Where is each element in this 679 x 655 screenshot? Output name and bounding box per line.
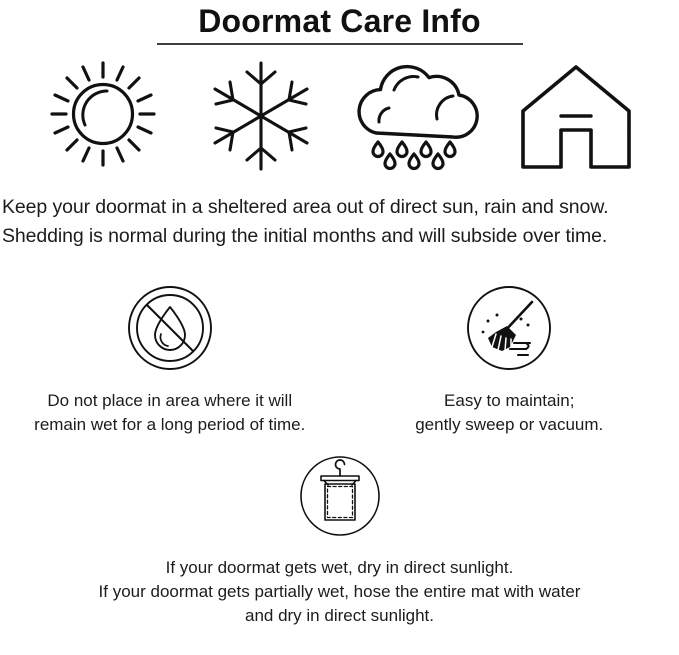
care-item-caption: Easy to maintain; gently sweep or vacuum… — [415, 389, 603, 437]
page-header: Doormat Care Info — [0, 0, 679, 45]
care-items-row: Do not place in area where it will remai… — [0, 285, 679, 437]
weather-cell-house — [511, 63, 641, 177]
care-item-easy-maintain: Easy to maintain; gently sweep or vacuum… — [340, 285, 679, 437]
intro-line-1: Keep your doormat in a sheltered area ou… — [2, 193, 677, 222]
rain-cloud-icon — [354, 53, 482, 177]
weather-cell-sun — [38, 55, 168, 177]
caption-line-2: gently sweep or vacuum. — [415, 413, 603, 437]
bottom-caption-line-1: If your doormat gets wet, dry in direct … — [99, 556, 581, 580]
caption-line-1: Easy to maintain; — [415, 389, 603, 413]
sun-icon — [43, 55, 163, 177]
caption-line-1: Do not place in area where it will — [34, 389, 305, 413]
weather-cell-snow — [196, 59, 326, 177]
broom-icon — [466, 285, 552, 375]
care-item-caption: Do not place in area where it will remai… — [34, 389, 305, 437]
hang-dry-icon — [299, 455, 381, 541]
intro-paragraph: Keep your doormat in a sheltered area ou… — [0, 177, 679, 251]
bottom-caption-line-2: If your doormat gets partially wet, hose… — [99, 580, 581, 604]
care-item-no-standing-water: Do not place in area where it will remai… — [0, 285, 340, 437]
weather-icon-row — [0, 45, 679, 177]
bottom-caption: If your doormat gets wet, dry in direct … — [99, 556, 581, 628]
house-icon — [517, 63, 635, 177]
snowflake-icon — [209, 59, 313, 177]
weather-cell-rain — [353, 53, 483, 177]
caption-line-2: remain wet for a long period of time. — [34, 413, 305, 437]
bottom-caption-line-3: and dry in direct sunlight. — [99, 604, 581, 628]
intro-line-2: Shedding is normal during the initial mo… — [2, 222, 677, 251]
page-title: Doormat Care Info — [0, 2, 679, 40]
care-item-dry-in-sunlight: If your doormat gets wet, dry in direct … — [0, 455, 679, 628]
no-water-icon — [127, 285, 213, 375]
